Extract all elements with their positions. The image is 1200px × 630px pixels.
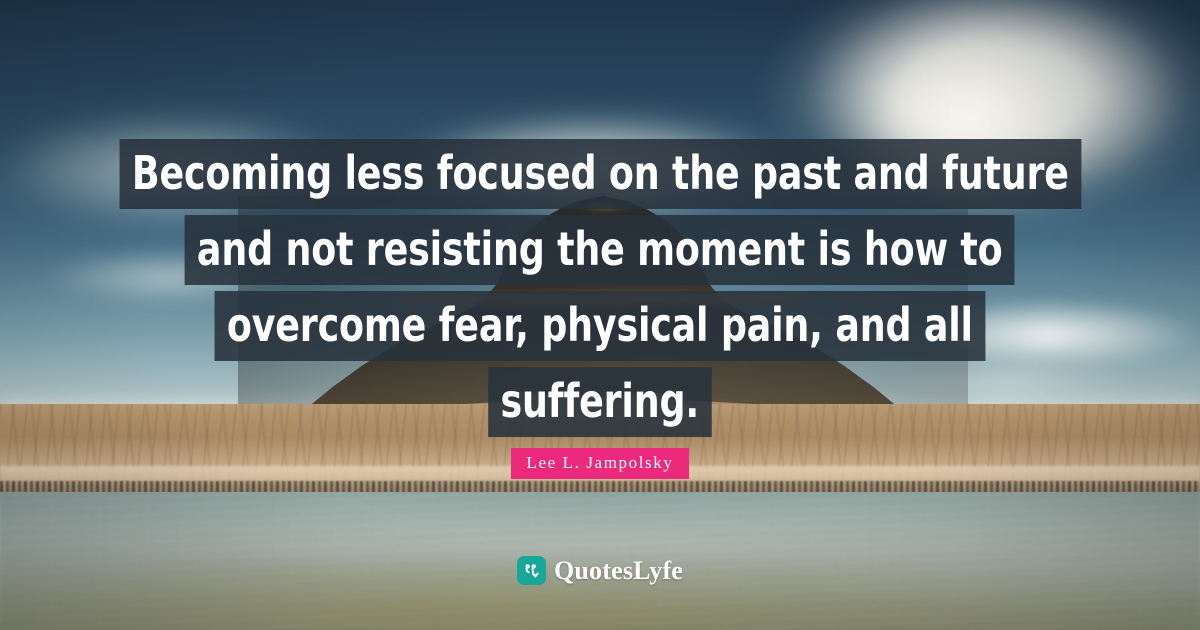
quote-line: suffering. (0, 367, 1200, 437)
quote-line-text: overcome fear, physical pain, and all (215, 291, 986, 361)
quote-text: Becoming less focused on the past and fu… (0, 139, 1200, 443)
logo-inner[interactable]: QuotesLyfe (517, 556, 683, 585)
quote-line-text: and not resisting the moment is how to (185, 215, 1015, 285)
quote-line: Becoming less focused on the past and fu… (0, 139, 1200, 209)
quote-line: overcome fear, physical pain, and all (0, 291, 1200, 361)
author-name-badge[interactable]: Lee L. Jampolsky (511, 448, 690, 479)
quote-card: Becoming less focused on the past and fu… (0, 0, 1200, 630)
site-logo[interactable]: QuotesLyfe (0, 556, 1200, 586)
logo-wordmark: QuotesLyfe (554, 558, 683, 584)
quote-line-text: Becoming less focused on the past and fu… (119, 139, 1081, 209)
quote-line: and not resisting the moment is how to (0, 215, 1200, 285)
author-attribution: Lee L. Jampolsky (0, 448, 1200, 479)
quote-mark-icon (517, 556, 546, 585)
quote-line-text: suffering. (488, 367, 711, 437)
